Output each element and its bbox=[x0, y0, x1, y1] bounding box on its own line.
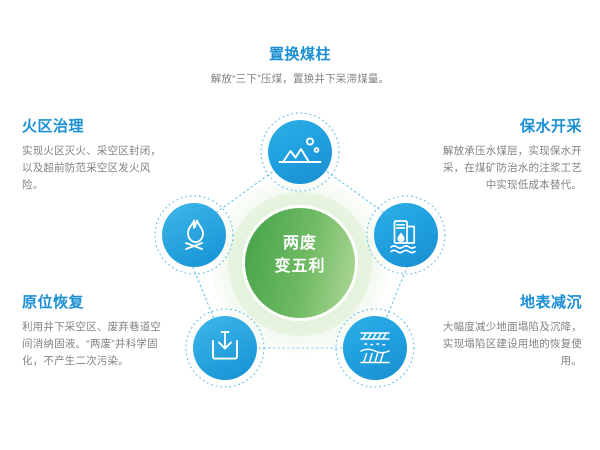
node-replace-coal-pillar[interactable] bbox=[261, 113, 339, 191]
node-desc-water-preserving-mining: 解放承压水煤层，实现保水开采，在煤矿防治水的注浆工艺中实现低成本替代。 bbox=[440, 143, 582, 194]
node-desc-in-situ-restoration: 利用井下采空区、废弃巷道空间消纳固液。“两废”并科学固化，不产生二次污染。 bbox=[22, 319, 168, 370]
infographic-canvas: 两废 变五利 置换煤柱 解放“三下”压煤，置换井下呆滞煤量。 火区治理 实现火区… bbox=[0, 0, 600, 450]
node-title-in-situ-restoration: 原位恢复 bbox=[22, 294, 168, 312]
text-block-surface-subsidence-reduction: 地表减沉 大幅度减少地面塌陷及沉降，实现塌陷区建设用地的恢复使用。 bbox=[438, 294, 582, 370]
node-surface-subsidence-reduction[interactable] bbox=[336, 309, 414, 387]
node-title-replace-coal-pillar: 置换煤柱 bbox=[160, 46, 440, 64]
text-block-fire-zone-control: 火区治理 实现火区灭火、采空区封闭，以及超前防范采空区发火风险。 bbox=[22, 118, 162, 194]
node-title-water-preserving-mining: 保水开采 bbox=[440, 118, 582, 136]
text-block-replace-coal-pillar: 置换煤柱 解放“三下”压煤，置换井下呆滞煤量。 bbox=[160, 46, 440, 88]
center-core bbox=[242, 205, 358, 321]
node-desc-fire-zone-control: 实现火区灭火、采空区封闭，以及超前防范采空区发火风险。 bbox=[22, 143, 162, 194]
text-block-in-situ-restoration: 原位恢复 利用井下采空区、废弃巷道空间消纳固液。“两废”并科学固化，不产生二次污… bbox=[22, 294, 168, 370]
node-title-surface-subsidence-reduction: 地表减沉 bbox=[438, 294, 582, 312]
node-title-fire-zone-control: 火区治理 bbox=[22, 118, 162, 136]
node-desc-replace-coal-pillar: 解放“三下”压煤，置换井下呆滞煤量。 bbox=[160, 71, 440, 88]
node-desc-surface-subsidence-reduction: 大幅度减少地面塌陷及沉降，实现塌陷区建设用地的恢复使用。 bbox=[438, 319, 582, 370]
text-block-water-preserving-mining: 保水开采 解放承压水煤层，实现保水开采，在煤矿防治水的注浆工艺中实现低成本替代。 bbox=[440, 118, 582, 194]
